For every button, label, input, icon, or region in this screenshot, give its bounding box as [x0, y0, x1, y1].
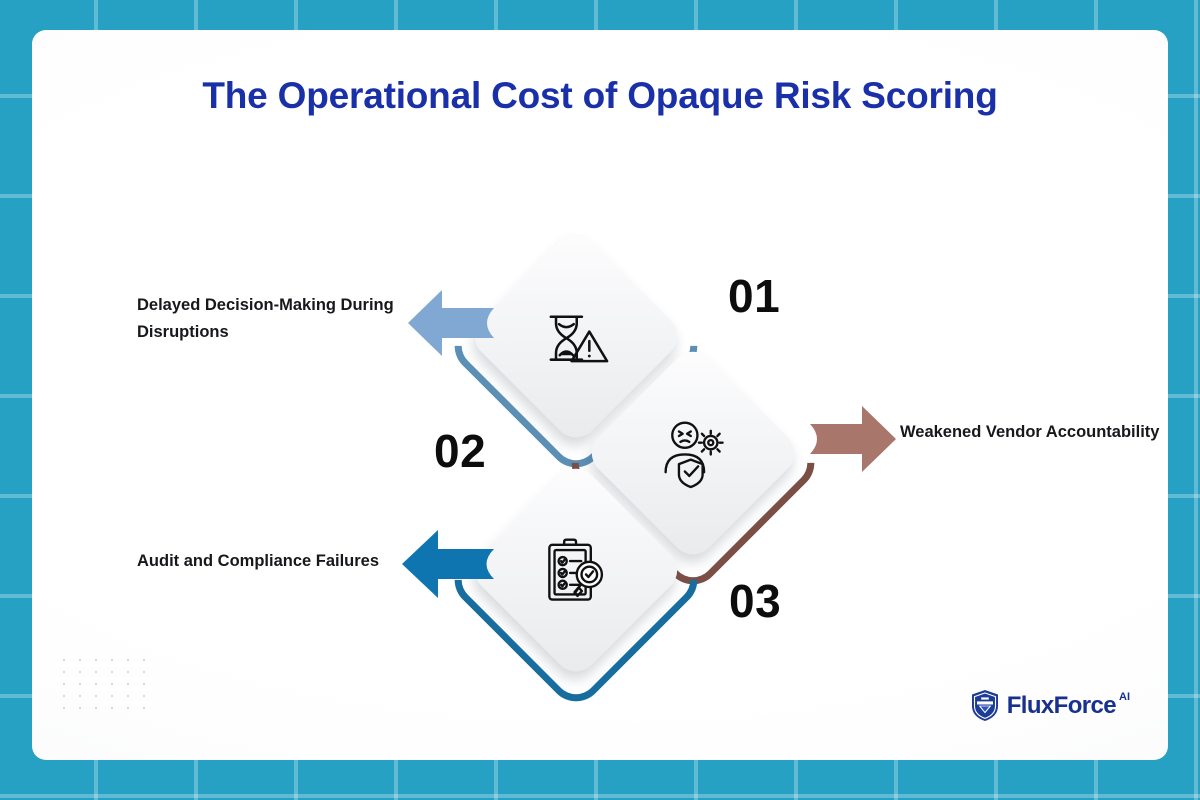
step-number-01: 01	[728, 273, 780, 319]
infographic-stage: The Operational Cost of Opaque Risk Scor…	[0, 0, 1200, 800]
dot-grid-decoration	[56, 654, 152, 716]
step-label-03: Audit and Compliance Failures	[137, 548, 427, 575]
brand-name: FluxForce	[1007, 694, 1116, 718]
brand-logo[interactable]: FluxForce AI	[970, 689, 1130, 722]
shield-icon	[970, 689, 1000, 722]
arrow-right-step-02	[810, 402, 896, 476]
hourglass-warning-icon	[539, 299, 613, 373]
frustrated-user-gear-shield-icon	[656, 416, 730, 490]
brand-superscript: AI	[1119, 691, 1130, 703]
page-title: The Operational Cost of Opaque Risk Scor…	[32, 75, 1168, 117]
clipboard-checklist-magnifier-icon	[539, 533, 613, 607]
step-number-02: 02	[434, 428, 486, 474]
step-label-01: Delayed Decision-Making During Disruptio…	[137, 292, 427, 345]
step-label-02: Weakened Vendor Accountability	[900, 419, 1168, 446]
content-canvas: The Operational Cost of Opaque Risk Scor…	[32, 30, 1168, 760]
step-number-03: 03	[729, 578, 781, 624]
